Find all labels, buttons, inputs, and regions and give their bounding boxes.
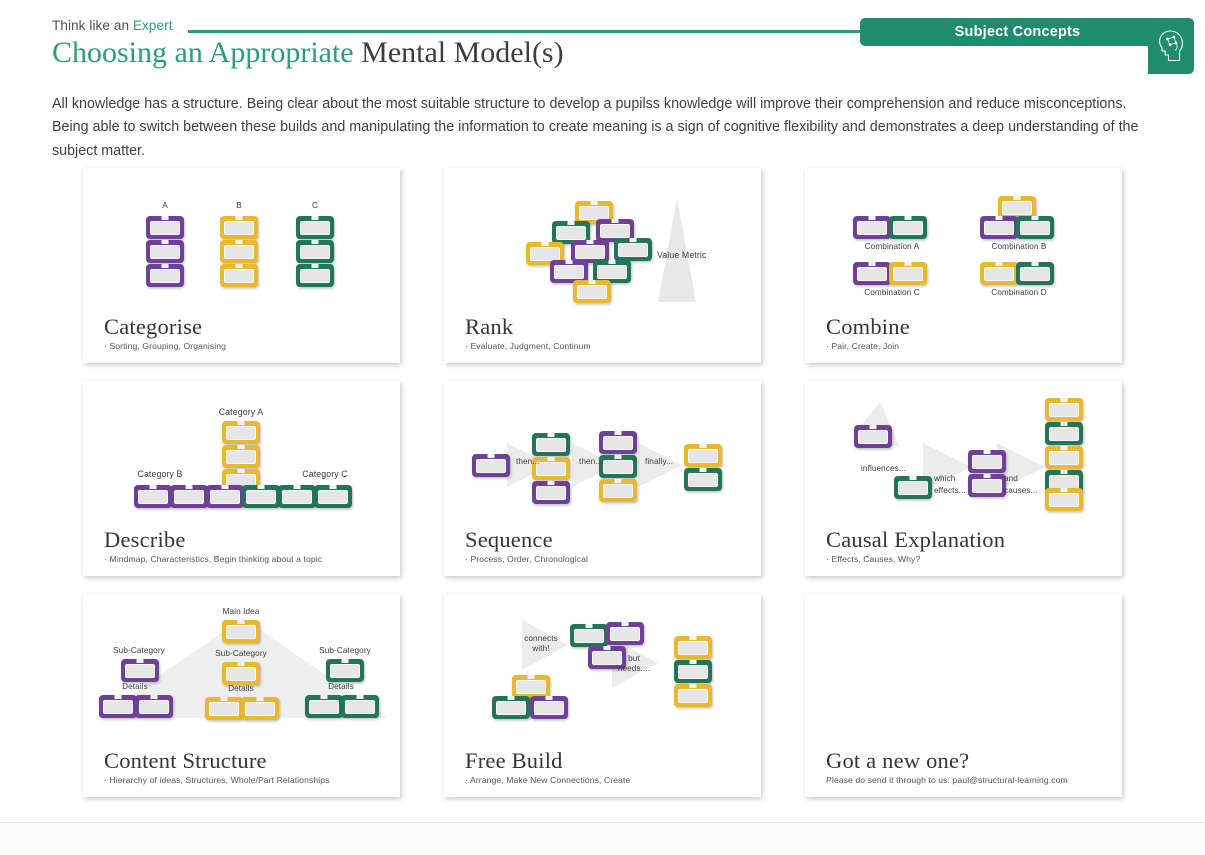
- block-yellow: [599, 479, 637, 502]
- card-subtitle: · Effects, Causes, Why?: [826, 554, 1112, 564]
- free-build-label-connects: connects: [524, 634, 558, 643]
- block-green: [889, 216, 927, 239]
- status-badge-label: Subject Concepts: [955, 24, 1081, 40]
- block-yellow: [674, 684, 712, 707]
- block-purple: [606, 622, 644, 645]
- categorise-label-a: A: [162, 201, 168, 210]
- card-subtitle: - Process, Order, Chronological: [465, 554, 751, 564]
- card-title: Sequence: [465, 528, 751, 552]
- free-build-label-needs: needs....: [618, 664, 650, 673]
- block-green: [532, 433, 570, 456]
- card-caption: Content Structure · Hierarchy of ideas, …: [104, 749, 390, 785]
- block-yellow: [220, 264, 258, 287]
- card-subtitle: · Evaluate, Judgment, Continum: [465, 341, 751, 351]
- card-caption: Rank · Evaluate, Judgment, Continum: [465, 315, 751, 351]
- block-purple: [853, 216, 891, 239]
- block-green: [326, 659, 364, 682]
- block-purple: [530, 696, 568, 719]
- describe-label-category-b: Category B: [137, 469, 182, 479]
- causal-diagram: influences... which effects... and cause…: [805, 381, 1122, 521]
- categorise-diagram: A B C: [83, 168, 400, 308]
- card-row-3: Main Idea Sub-Category Sub-Category Sub-…: [83, 594, 1121, 797]
- card-subtitle: · Sorting, Grouping, Organising: [104, 341, 390, 351]
- block-yellow: [512, 675, 550, 698]
- block-green: [242, 485, 280, 508]
- card-title: Describe: [104, 528, 390, 552]
- content-label-sub-2: Sub-Category: [215, 649, 267, 658]
- card-row-2: Category A Category B Category C Describ…: [83, 381, 1121, 576]
- sequence-label-step1: then...: [516, 457, 539, 466]
- block-yellow: [980, 262, 1018, 285]
- card-row-1: A B C Categorise · Sorting, Grouping, Or: [83, 168, 1121, 363]
- page-title-green: Choosing an Appropriate: [52, 36, 361, 69]
- block-purple: [170, 485, 208, 508]
- card-subtitle: · Arrange, Make New Connections, Create: [465, 775, 751, 785]
- eyebrow-accent: Expert: [133, 18, 173, 33]
- content-label-details-1: Details: [122, 682, 148, 691]
- block-yellow: [222, 445, 260, 468]
- card-subtitle: Please do send it through to us: paul@st…: [826, 775, 1112, 785]
- combine-label-b: Combination B: [991, 242, 1046, 251]
- card-got-a-new-one[interactable]: Got a new one? Please do send it through…: [805, 594, 1122, 797]
- block-purple: [853, 262, 891, 285]
- free-build-label-but: but: [628, 654, 640, 663]
- categorise-label-b: B: [236, 201, 242, 210]
- block-yellow: [220, 240, 258, 263]
- card-caption: Causal Explanation · Effects, Causes, Wh…: [826, 528, 1112, 564]
- eyebrow-prefix: Think like an: [52, 18, 133, 33]
- block-green: [278, 485, 316, 508]
- card-caption: Got a new one? Please do send it through…: [826, 749, 1112, 785]
- block-yellow: [889, 262, 927, 285]
- categorise-label-c: C: [312, 201, 318, 210]
- card-title: Combine: [826, 315, 1112, 339]
- block-yellow: [241, 697, 279, 720]
- block-yellow: [205, 697, 243, 720]
- page-title-dark: Mental Model(s): [361, 36, 563, 69]
- block-yellow: [222, 620, 260, 643]
- card-combine[interactable]: Combination A Combination B Combination …: [805, 168, 1122, 363]
- card-subtitle: · Hierarchy of ideas, Structures, Whole/…: [104, 775, 390, 785]
- header-divider-rule: [188, 30, 860, 33]
- head-network-icon: [1148, 18, 1194, 74]
- block-purple: [146, 264, 184, 287]
- card-free-build[interactable]: connects with! but needs.... Free Build …: [444, 594, 761, 797]
- block-purple: [146, 240, 184, 263]
- block-purple: [472, 454, 510, 477]
- card-causal-explanation[interactable]: influences... which effects... and cause…: [805, 381, 1122, 576]
- block-green: [1045, 422, 1083, 445]
- block-green: [570, 624, 608, 647]
- combine-label-d: Combination D: [991, 288, 1046, 297]
- sequence-diagram: then... then... finally...: [444, 381, 761, 521]
- block-yellow: [222, 421, 260, 444]
- content-label-main-idea: Main Idea: [223, 607, 260, 616]
- causal-label-influences: influences...: [861, 464, 906, 473]
- describe-diagram: Category A Category B Category C: [83, 381, 400, 521]
- intro-paragraph: All knowledge has a structure. Being cle…: [52, 93, 1156, 162]
- block-purple: [135, 695, 173, 718]
- block-green: [296, 216, 334, 239]
- block-purple: [599, 431, 637, 454]
- block-green: [1016, 262, 1054, 285]
- block-green: [314, 485, 352, 508]
- block-purple: [968, 474, 1006, 497]
- slide-page: Think like an Expert Subject Concepts Ch…: [0, 0, 1205, 855]
- block-yellow: [674, 636, 712, 659]
- block-yellow: [1045, 488, 1083, 511]
- card-caption: Categorise · Sorting, Grouping, Organisi…: [104, 315, 390, 351]
- block-green: [1016, 216, 1054, 239]
- causal-label-causes: causes...: [1004, 486, 1038, 495]
- rank-label-value-metric: Value Metric: [657, 250, 706, 260]
- card-title: Rank: [465, 315, 751, 339]
- content-label-sub-1: Sub-Category: [113, 646, 165, 655]
- block-purple: [854, 425, 892, 448]
- content-label-details-2: Details: [228, 684, 254, 693]
- eyebrow: Think like an Expert: [52, 18, 173, 33]
- block-purple: [146, 216, 184, 239]
- footer-divider-rule: [0, 822, 1205, 823]
- content-label-details-3: Details: [328, 682, 354, 691]
- card-subtitle: · Pair, Create, Join: [826, 341, 1112, 351]
- free-build-label-with: with!: [532, 644, 549, 653]
- rank-diagram: Value Metric: [444, 168, 761, 308]
- card-sequence[interactable]: then... then... finally... Sequence - Pr…: [444, 381, 761, 576]
- combine-label-a: Combination A: [865, 242, 920, 251]
- block-green: [305, 695, 343, 718]
- card-title: Categorise: [104, 315, 390, 339]
- content-structure-diagram: Main Idea Sub-Category Sub-Category Sub-…: [83, 594, 400, 742]
- combine-diagram: Combination A Combination B Combination …: [805, 168, 1122, 308]
- causal-label-effects: effects...: [934, 486, 966, 495]
- content-label-sub-3: Sub-Category: [319, 646, 371, 655]
- block-green: [599, 455, 637, 478]
- block-yellow: [684, 444, 722, 467]
- card-title: Causal Explanation: [826, 528, 1112, 552]
- block-purple: [99, 695, 137, 718]
- card-caption: Sequence - Process, Order, Chronological: [465, 528, 751, 564]
- footer-band: [0, 823, 1205, 855]
- describe-label-category-c: Category C: [302, 469, 348, 479]
- describe-label-category-a: Category A: [219, 407, 264, 417]
- block-purple: [121, 659, 159, 682]
- sequence-label-step2: then...: [579, 457, 602, 466]
- free-build-diagram: connects with! but needs....: [444, 594, 761, 742]
- block-green: [684, 468, 722, 491]
- card-title: Got a new one?: [826, 749, 1112, 773]
- card-subtitle: · Mindmap, Characteristics, Begin thinki…: [104, 554, 390, 564]
- block-green: [674, 660, 712, 683]
- block-yellow: [1045, 446, 1083, 469]
- block-purple: [980, 216, 1018, 239]
- block-purple: [968, 450, 1006, 473]
- block-yellow: [573, 280, 611, 303]
- card-caption: Describe · Mindmap, Characteristics, Beg…: [104, 528, 390, 564]
- card-grid: A B C Categorise · Sorting, Grouping, Or: [83, 168, 1121, 815]
- card-title: Content Structure: [104, 749, 390, 773]
- causal-label-which: which: [934, 474, 955, 483]
- block-green: [296, 240, 334, 263]
- block-purple: [134, 485, 172, 508]
- block-purple: [532, 481, 570, 504]
- combine-label-c: Combination C: [864, 288, 919, 297]
- card-caption: Combine · Pair, Create, Join: [826, 315, 1112, 351]
- block-yellow: [222, 662, 260, 685]
- causal-label-and: and: [1004, 474, 1018, 483]
- card-rank[interactable]: Value Metric Rank · Evaluate, Judgment, …: [444, 168, 761, 363]
- card-title: Free Build: [465, 749, 751, 773]
- status-badge: Subject Concepts: [860, 18, 1175, 46]
- block-green: [894, 476, 932, 499]
- block-yellow: [220, 216, 258, 239]
- card-caption: Free Build · Arrange, Make New Connectio…: [465, 749, 751, 785]
- block-green: [614, 238, 652, 261]
- block-yellow: [1045, 398, 1083, 421]
- block-green: [341, 695, 379, 718]
- block-green: [492, 696, 530, 719]
- card-content-structure[interactable]: Main Idea Sub-Category Sub-Category Sub-…: [83, 594, 400, 797]
- block-purple: [206, 485, 244, 508]
- block-green: [296, 264, 334, 287]
- page-title: Choosing an Appropriate Mental Model(s): [52, 36, 564, 70]
- card-categorise[interactable]: A B C Categorise · Sorting, Grouping, Or: [83, 168, 400, 363]
- sequence-label-step3: finally...: [645, 457, 673, 466]
- card-describe[interactable]: Category A Category B Category C Describ…: [83, 381, 400, 576]
